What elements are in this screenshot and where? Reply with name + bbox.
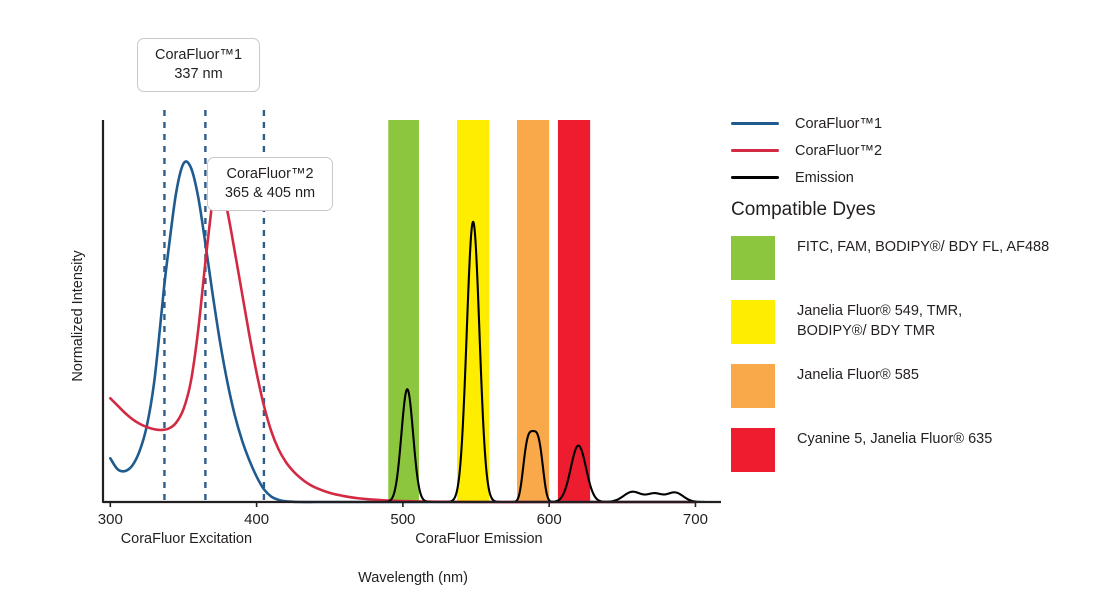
callout-corafluor2-line2: 365 & 405 nm [218,184,322,203]
x-tick-label-400: 400 [244,511,269,528]
legend-item-label: CoraFluor™1 [795,116,882,132]
legend-item-0: CoraFluor™1 [731,110,1071,137]
callout-corafluor1: CoraFluor™1 337 nm [137,38,260,92]
legend-item-label: CoraFluor™2 [795,143,882,159]
callout-corafluor1-line1: CoraFluor™1 [155,47,242,63]
dye-label: Janelia Fluor® 549, TMR,BODIPY®/ BDY TMR [797,300,962,341]
legend-swatch-line-icon [731,122,779,125]
x-tick-label-700: 700 [683,511,708,528]
y-axis-title: Normalized Intensity [70,250,86,382]
dye-label: Janelia Fluor® 585 [797,364,919,386]
x-tick-label-500: 500 [390,511,415,528]
dye-color-swatch [731,428,775,472]
dye-row-0: FITC, FAM, BODIPY®/ BDY FL, AF488 [731,236,1091,280]
axis-tick-labels: 300400500600700 [98,502,708,528]
axis-region-labels: CoraFluor ExcitationCoraFluor Emission [121,531,543,547]
legend-item-label: Emission [795,170,854,186]
x-tick-label-600: 600 [537,511,562,528]
x-tick-label-300: 300 [98,511,123,528]
legend-item-1: CoraFluor™2 [731,137,1071,164]
compatible-dyes-list: FITC, FAM, BODIPY®/ BDY FL, AF488Janelia… [731,236,1091,492]
callout-corafluor1-line2: 337 nm [148,65,249,84]
dye-color-swatch [731,364,775,408]
dye-label: FITC, FAM, BODIPY®/ BDY FL, AF488 [797,236,1049,258]
series-legend: CoraFluor™1CoraFluor™2Emission [731,110,1071,191]
legend-swatch-line-icon [731,149,779,152]
region-label-emission: CoraFluor Emission [415,531,542,547]
chart-page: 300400500600700 CoraFluor ExcitationCora… [0,0,1110,612]
legend-item-2: Emission [731,164,1071,191]
dye-color-swatch [731,300,775,344]
red-band [558,120,590,502]
dye-row-1: Janelia Fluor® 549, TMR,BODIPY®/ BDY TMR [731,300,1091,344]
orange-band [517,120,549,502]
legend-swatch-line-icon [731,176,779,179]
compatible-dyes-title: Compatible Dyes [731,199,876,221]
dye-row-2: Janelia Fluor® 585 [731,364,1091,408]
dye-row-3: Cyanine 5, Janelia Fluor® 635 [731,428,1091,472]
callout-corafluor2: CoraFluor™2 365 & 405 nm [207,157,333,211]
region-label-excitation: CoraFluor Excitation [121,531,252,547]
callout-corafluor2-line1: CoraFluor™2 [226,166,313,182]
dye-label: Cyanine 5, Janelia Fluor® 635 [797,428,992,450]
x-axis-title: Wavelength (nm) [358,570,468,586]
emission-bands [388,120,590,502]
dye-color-swatch [731,236,775,280]
